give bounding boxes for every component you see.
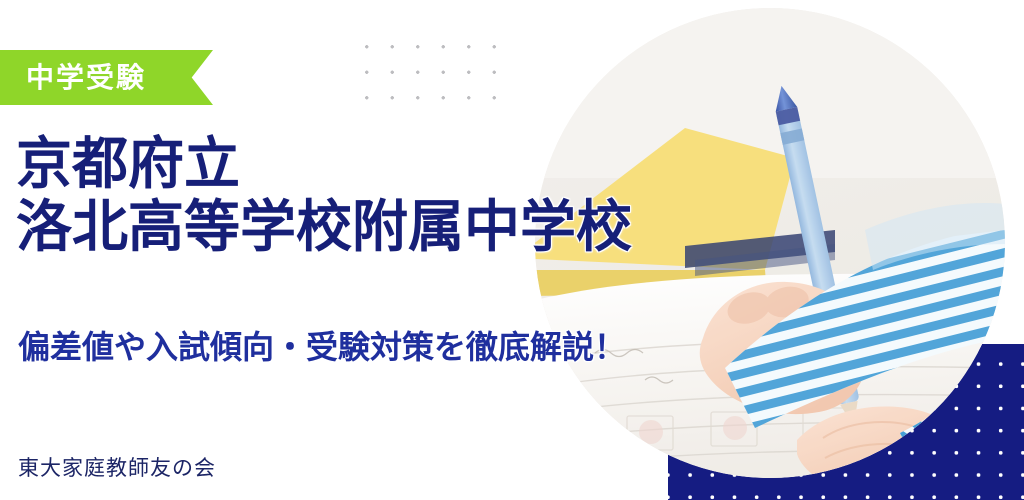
page-title: 京都府立 洛北高等学校附属中学校 [16, 134, 632, 259]
page-title-line-1: 京都府立 [16, 134, 632, 197]
category-tag-label: 中学受験 [0, 64, 146, 92]
article-hero-banner: 中学受験 京都府立 洛北高等学校附属中学校 偏差値や入試傾向・受験対策を徹底解説… [0, 0, 1024, 500]
page-title-line-2: 洛北高等学校附属中学校 [16, 197, 632, 260]
page-subtitle: 偏差値や入試傾向・受験対策を徹底解説！ [18, 328, 626, 366]
category-tag-ribbon: 中学受験 [0, 50, 213, 105]
dot-grid-decoration [352, 32, 514, 114]
brand-name: 東大家庭教師友の会 [18, 452, 216, 482]
